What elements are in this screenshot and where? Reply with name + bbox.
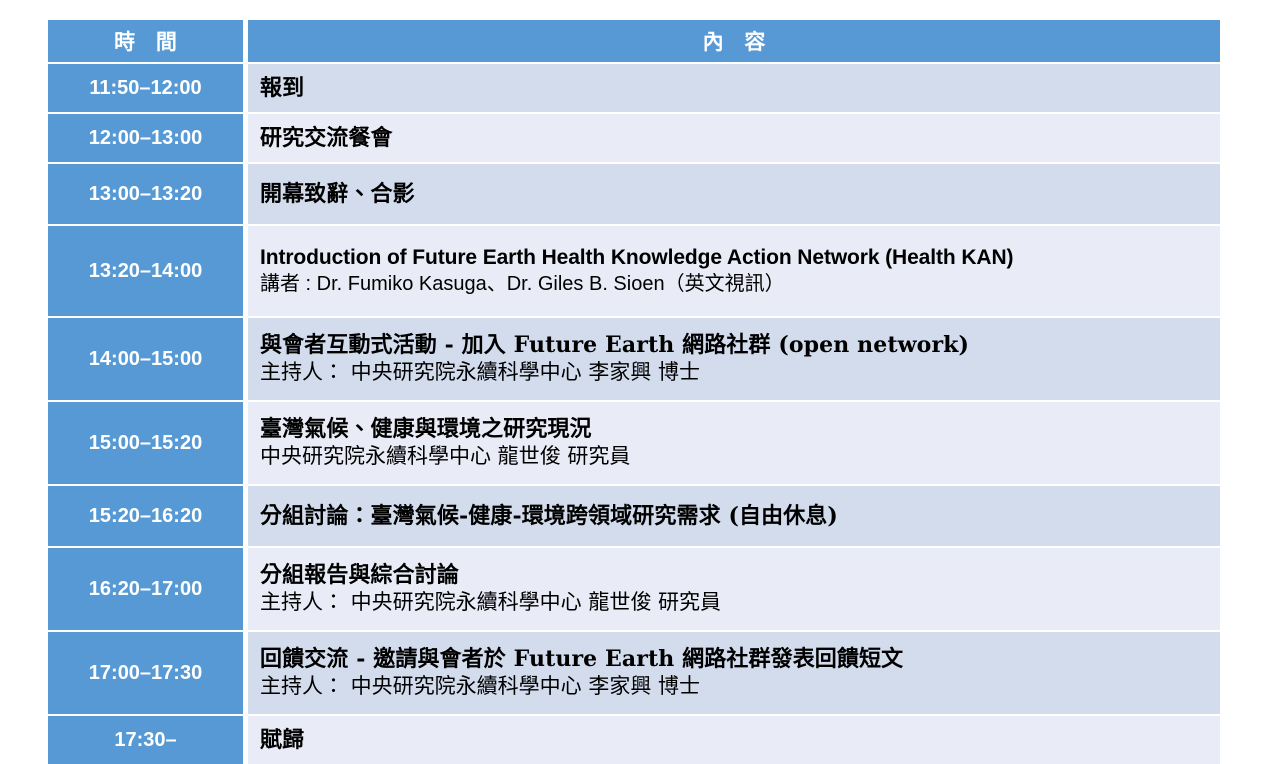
session-title: 報到	[260, 74, 1220, 103]
agenda-table: 時 間 內 容 11:50–12:00 報到 12:00–13:00 研究交流餐…	[48, 20, 1220, 764]
table-row: 17:30– 賦歸	[48, 714, 1220, 764]
table-header: 時 間 內 容	[48, 20, 1220, 62]
session-title: 分組討論：臺灣氣候-健康-環境跨領域研究需求 (自由休息)	[260, 502, 1220, 531]
time-cell: 17:00–17:30	[48, 630, 248, 714]
content-cell: 分組報告與綜合討論 主持人： 中央研究院永續科學中心 龍世俊 研究員	[248, 546, 1220, 630]
column-header-time: 時 間	[48, 20, 248, 62]
time-cell: 12:00–13:00	[48, 112, 248, 162]
content-cell: Introduction of Future Earth Health Know…	[248, 224, 1220, 316]
table-row: 11:50–12:00 報到	[48, 62, 1220, 112]
time-cell: 13:20–14:00	[48, 224, 248, 316]
session-title: 臺灣氣候、健康與環境之研究現況	[260, 415, 1220, 444]
header-row: 時 間 內 容	[48, 20, 1220, 62]
session-speaker: 主持人： 中央研究院永續科學中心 李家興 博士	[260, 673, 1220, 701]
column-header-content: 內 容	[248, 20, 1220, 62]
time-cell: 15:20–16:20	[48, 484, 248, 546]
session-speaker: 主持人： 中央研究院永續科學中心 龍世俊 研究員	[260, 589, 1220, 617]
session-speaker: 主持人： 中央研究院永續科學中心 李家興 博士	[260, 359, 1220, 387]
time-cell: 14:00–15:00	[48, 316, 248, 400]
session-speaker: 講者 : Dr. Fumiko Kasuga、Dr. Giles B. Sioe…	[260, 271, 1220, 297]
time-cell: 11:50–12:00	[48, 62, 248, 112]
table-row: 16:20–17:00 分組報告與綜合討論 主持人： 中央研究院永續科學中心 龍…	[48, 546, 1220, 630]
session-title: 研究交流餐會	[260, 124, 1220, 153]
content-cell: 分組討論：臺灣氣候-健康-環境跨領域研究需求 (自由休息)	[248, 484, 1220, 546]
session-title: Introduction of Future Earth Health Know…	[260, 244, 1220, 271]
table-row: 12:00–13:00 研究交流餐會	[48, 112, 1220, 162]
content-cell: 開幕致辭、合影	[248, 162, 1220, 224]
time-cell: 17:30–	[48, 714, 248, 764]
content-cell: 報到	[248, 62, 1220, 112]
session-title: 開幕致辭、合影	[260, 180, 1220, 209]
session-title: 分組報告與綜合討論	[260, 561, 1220, 590]
session-title: 賦歸	[260, 726, 1220, 755]
time-cell: 15:00–15:20	[48, 400, 248, 484]
table-row: 15:20–16:20 分組討論：臺灣氣候-健康-環境跨領域研究需求 (自由休息…	[48, 484, 1220, 546]
table-row: 14:00–15:00 與會者互動式活動 - 加入 Future Earth 網…	[48, 316, 1220, 400]
content-cell: 賦歸	[248, 714, 1220, 764]
table-body: 11:50–12:00 報到 12:00–13:00 研究交流餐會 13:00–…	[48, 62, 1220, 764]
table-row: 15:00–15:20 臺灣氣候、健康與環境之研究現況 中央研究院永續科學中心 …	[48, 400, 1220, 484]
agenda-table-container: 時 間 內 容 11:50–12:00 報到 12:00–13:00 研究交流餐…	[48, 20, 1220, 704]
content-cell: 研究交流餐會	[248, 112, 1220, 162]
table-row: 17:00–17:30 回饋交流 - 邀請與會者於 Future Earth 網…	[48, 630, 1220, 714]
content-cell: 與會者互動式活動 - 加入 Future Earth 網路社群 (open ne…	[248, 316, 1220, 400]
table-row: 13:20–14:00 Introduction of Future Earth…	[48, 224, 1220, 316]
content-cell: 臺灣氣候、健康與環境之研究現況 中央研究院永續科學中心 龍世俊 研究員	[248, 400, 1220, 484]
table-row: 13:00–13:20 開幕致辭、合影	[48, 162, 1220, 224]
session-title: 回饋交流 - 邀請與會者於 Future Earth 網路社群發表回饋短文	[260, 645, 1220, 674]
time-cell: 16:20–17:00	[48, 546, 248, 630]
session-speaker: 中央研究院永續科學中心 龍世俊 研究員	[260, 443, 1220, 471]
content-cell: 回饋交流 - 邀請與會者於 Future Earth 網路社群發表回饋短文 主持…	[248, 630, 1220, 714]
session-title: 與會者互動式活動 - 加入 Future Earth 網路社群 (open ne…	[260, 331, 1220, 360]
time-cell: 13:00–13:20	[48, 162, 248, 224]
